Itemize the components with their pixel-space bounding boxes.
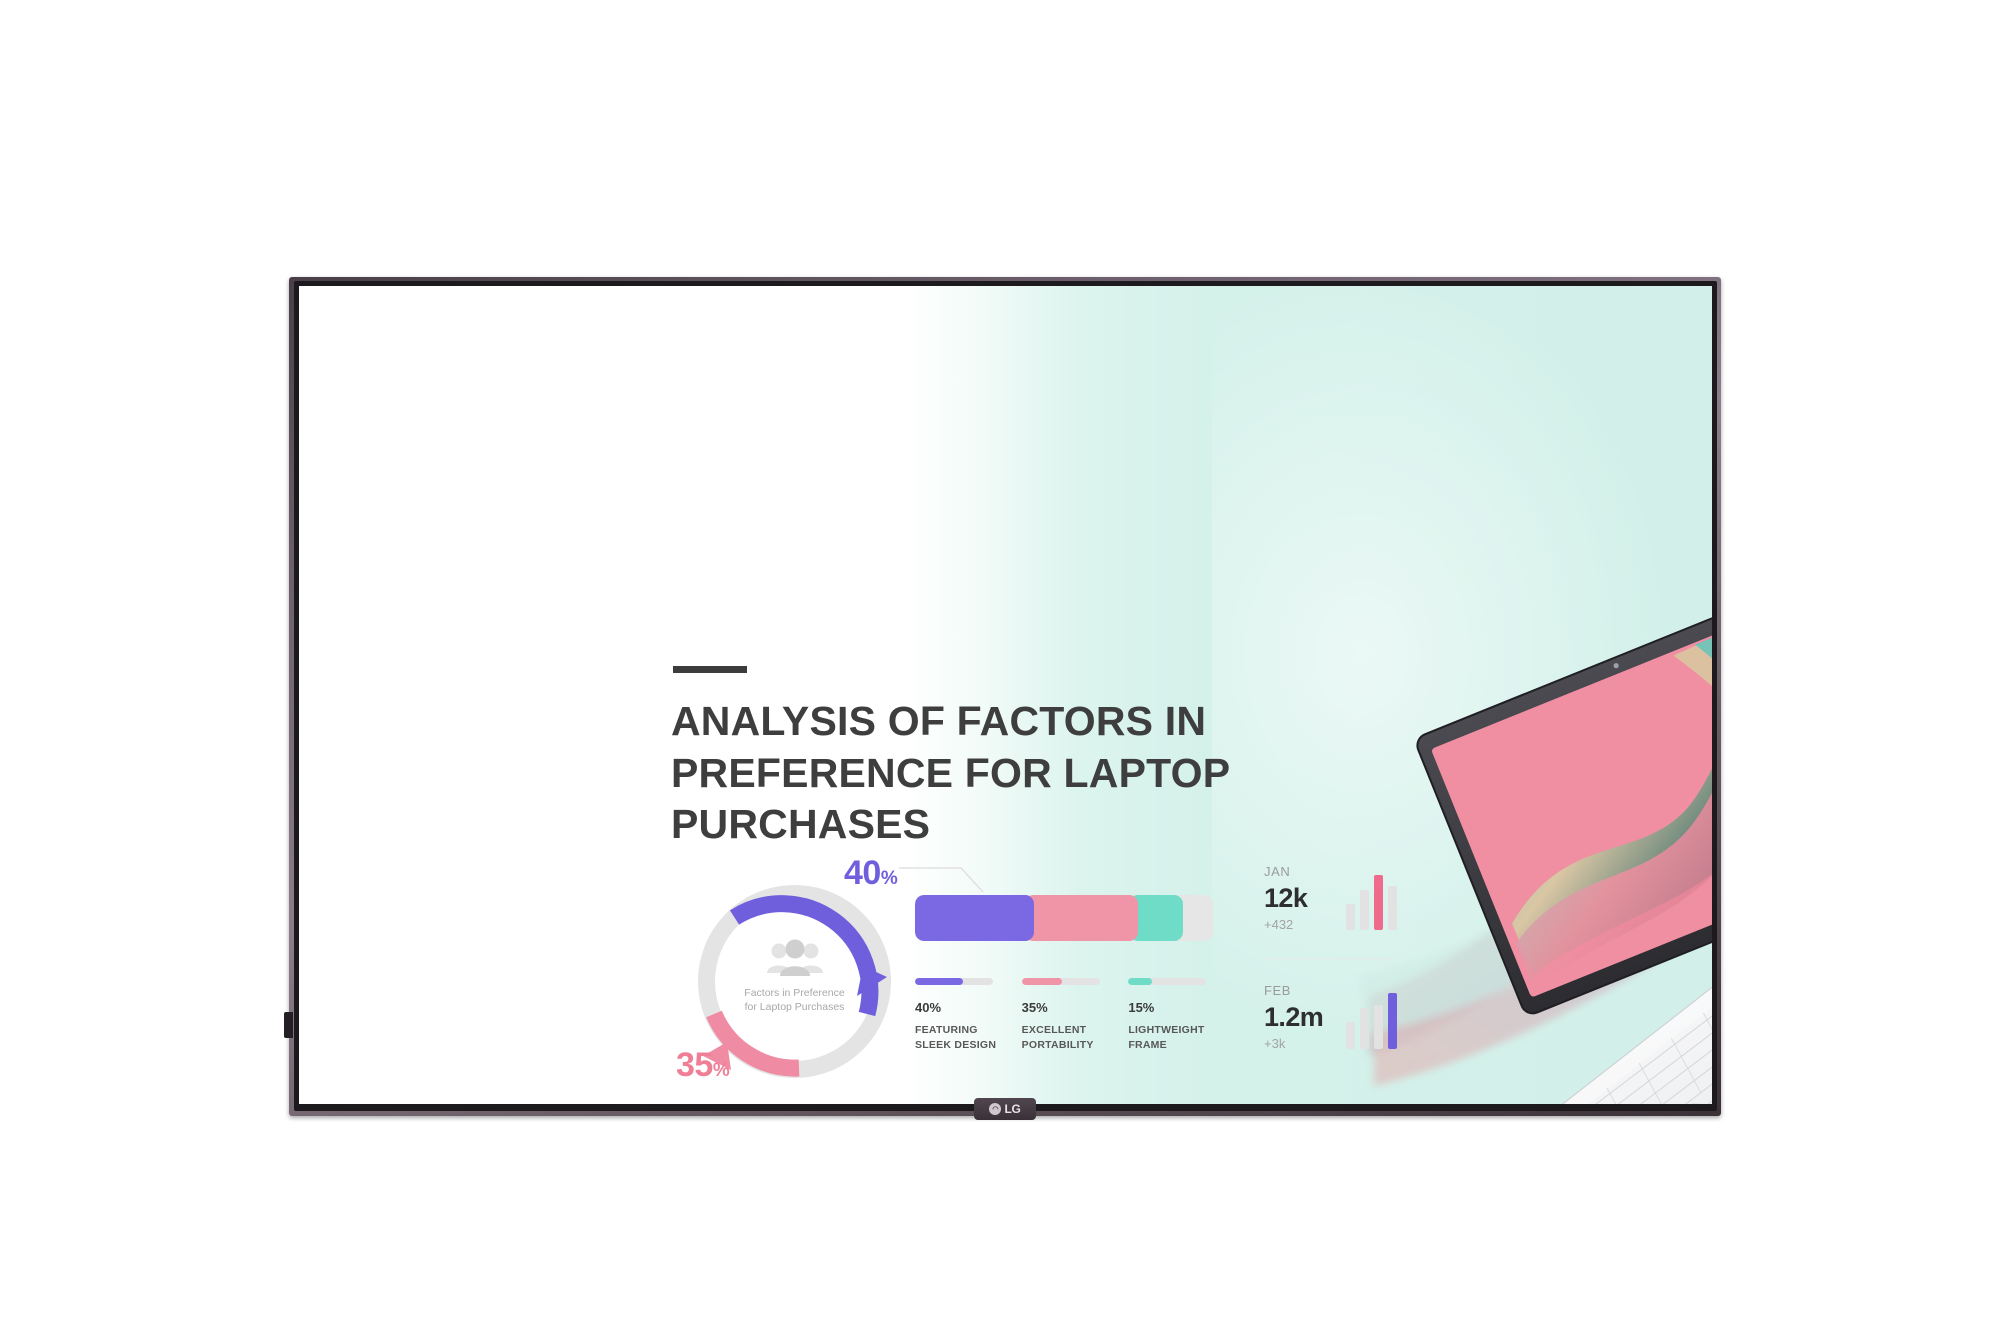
kpi-bar <box>1374 1005 1383 1049</box>
kpi-bar <box>1360 1008 1369 1049</box>
legend-item-portability: 35% EXCELLENT PORTABILITY <box>1022 978 1129 1053</box>
kpi-bar <box>1388 886 1397 930</box>
legend-pct: 40% <box>915 1000 1022 1015</box>
donut-label-40-value: 40 <box>844 854 881 892</box>
monitor-bezel: ANALYSIS OF FACTORS IN PREFERENCE FOR LA… <box>289 277 1721 1116</box>
lg-brand-logo: ◠ LG <box>974 1098 1036 1120</box>
kpi-bar <box>1346 1022 1355 1049</box>
stacked-bar-segment-portability <box>1025 895 1138 941</box>
legend-fill <box>1128 978 1151 985</box>
legend-track <box>1022 978 1100 985</box>
legend-fill <box>1022 978 1063 985</box>
legend-track <box>1128 978 1206 985</box>
legend-label-line2: PORTABILITY <box>1022 1038 1129 1053</box>
legend-label-line1: EXCELLENT <box>1022 1023 1129 1038</box>
kpi-card-jan: JAN 12k +432 <box>1264 864 1404 932</box>
legend-label-line2: FRAME <box>1128 1038 1235 1053</box>
kpi-sparkbars <box>1346 991 1404 1049</box>
donut-caption-line1: Factors in Preference <box>687 986 902 1000</box>
stacked-bar-segment-sleek-design <box>915 895 1034 941</box>
kpi-bar-highlight <box>1374 875 1383 930</box>
title-rule <box>673 666 747 673</box>
legend-fill <box>915 978 963 985</box>
legend-pct: 35% <box>1022 1000 1129 1015</box>
monitor-side-nub <box>284 1012 293 1038</box>
lg-logo-mark: ◠ <box>989 1103 1001 1115</box>
legend-label: LIGHTWEIGHT FRAME <box>1128 1023 1235 1053</box>
legend-label-line1: FEATURING <box>915 1023 1022 1038</box>
legend-label-line2: SLEEK DESIGN <box>915 1038 1022 1053</box>
legend: 40% FEATURING SLEEK DESIGN 35% EXCELLENT <box>915 978 1235 1053</box>
page-title: ANALYSIS OF FACTORS IN PREFERENCE FOR LA… <box>671 696 1391 851</box>
monitor-screen: ANALYSIS OF FACTORS IN PREFERENCE FOR LA… <box>299 286 1712 1104</box>
stacked-bar <box>915 895 1213 941</box>
donut-label-35-unit: % <box>713 1060 729 1081</box>
legend-item-lightweight-frame: 15% LIGHTWEIGHT FRAME <box>1128 978 1235 1053</box>
legend-track <box>915 978 993 985</box>
kpi-sparkbars <box>1346 872 1404 930</box>
kpi-bar <box>1346 904 1355 930</box>
kpi-bar <box>1360 890 1369 930</box>
donut-label-40-unit: % <box>881 868 897 889</box>
kpi-card-feb: FEB 1.2m +3k <box>1264 983 1404 1051</box>
legend-pct: 15% <box>1128 1000 1235 1015</box>
donut-label-40: 40% <box>844 854 897 893</box>
donut-label-35-value: 35 <box>676 1046 713 1084</box>
legend-item-sleek-design: 40% FEATURING SLEEK DESIGN <box>915 978 1022 1053</box>
legend-label: FEATURING SLEEK DESIGN <box>915 1023 1022 1053</box>
donut-label-35: 35% <box>676 1046 729 1085</box>
presentation-slide: ANALYSIS OF FACTORS IN PREFERENCE FOR LA… <box>299 286 1712 1104</box>
lg-logo-text: LG <box>1004 1102 1020 1116</box>
kpi-bar-highlight <box>1388 993 1397 1049</box>
people-icon <box>763 938 827 978</box>
legend-label: EXCELLENT PORTABILITY <box>1022 1023 1129 1053</box>
donut-caption-line2: for Laptop Purchases <box>687 1000 902 1014</box>
lg-monitor: ANALYSIS OF FACTORS IN PREFERENCE FOR LA… <box>289 277 1721 1116</box>
kpi-divider <box>1264 958 1394 959</box>
donut-center-content: Factors in Preference for Laptop Purchas… <box>687 938 902 1015</box>
legend-label-line1: LIGHTWEIGHT <box>1128 1023 1235 1038</box>
